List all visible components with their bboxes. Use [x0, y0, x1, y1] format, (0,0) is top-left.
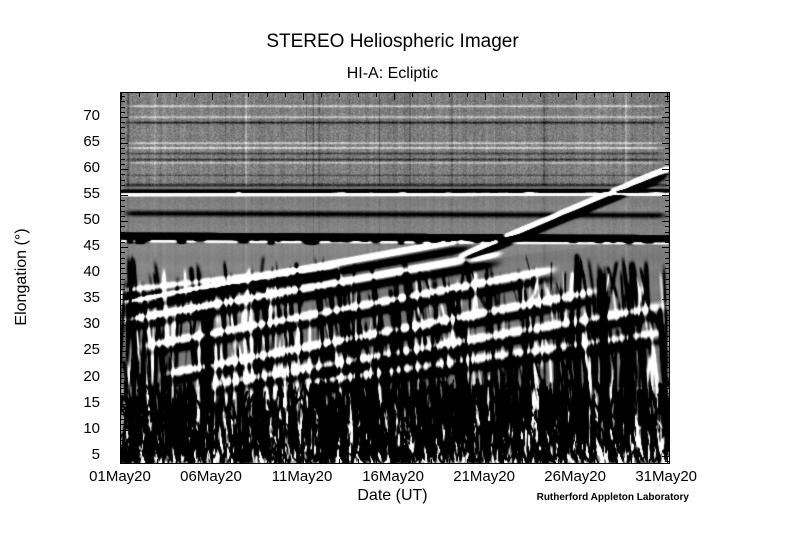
axis-tick [121, 159, 125, 160]
y-tick-label: 30 [60, 316, 100, 331]
axis-tick [376, 459, 377, 463]
axis-tick [665, 450, 669, 451]
axis-tick [662, 404, 669, 405]
axis-tick [194, 93, 195, 97]
axis-tick [121, 315, 125, 316]
axis-tick [121, 388, 125, 389]
axis-tick [121, 346, 125, 347]
axis-tick [139, 459, 140, 463]
axis-tick [540, 93, 541, 97]
axis-tick [121, 226, 125, 227]
axis-tick [121, 164, 125, 165]
axis-tick [662, 117, 669, 118]
axis-tick [121, 351, 128, 352]
axis-tick [121, 273, 128, 274]
axis-tick [121, 430, 128, 431]
axis-tick [121, 445, 125, 446]
axis-tick [121, 93, 122, 100]
y-tick-label: 35 [60, 290, 100, 305]
axis-tick [665, 148, 669, 149]
axis-tick [121, 200, 125, 201]
axis-tick [121, 284, 125, 285]
axis-tick [522, 93, 523, 97]
jmap-image [121, 93, 669, 463]
axis-tick [665, 362, 669, 363]
axis-tick [613, 93, 614, 97]
axis-tick [121, 289, 125, 290]
axis-tick [121, 450, 125, 451]
axis-tick [121, 336, 125, 337]
axis-tick [121, 247, 128, 248]
axis-tick [121, 414, 125, 415]
axis-tick [121, 112, 125, 113]
axis-tick [667, 93, 668, 100]
axis-tick [665, 237, 669, 238]
axis-tick [194, 459, 195, 463]
axis-tick [121, 242, 125, 243]
axis-tick [662, 325, 669, 326]
y-tick-label: 55 [60, 186, 100, 201]
axis-tick [121, 279, 125, 280]
axis-tick [665, 440, 669, 441]
axis-tick [665, 424, 669, 425]
axis-tick [662, 221, 669, 222]
axis-tick [121, 221, 128, 222]
axis-tick [665, 341, 669, 342]
axis-tick [121, 117, 128, 118]
axis-tick [662, 195, 669, 196]
axis-tick [212, 93, 213, 100]
axis-tick [248, 93, 249, 97]
axis-tick [662, 273, 669, 274]
axis-tick [665, 127, 669, 128]
axis-tick [157, 93, 158, 97]
axis-tick [665, 258, 669, 259]
axis-tick [449, 459, 450, 463]
axis-tick [121, 294, 125, 295]
axis-tick [665, 336, 669, 337]
axis-tick [121, 398, 125, 399]
axis-tick [665, 310, 669, 311]
axis-tick [631, 459, 632, 463]
axis-tick [665, 320, 669, 321]
axis-tick [665, 357, 669, 358]
axis-tick [358, 459, 359, 463]
axis-tick [665, 279, 669, 280]
axis-tick [665, 216, 669, 217]
axis-tick [665, 435, 669, 436]
axis-tick [665, 185, 669, 186]
y-tick-label: 45 [60, 238, 100, 253]
y-tick-label: 10 [60, 421, 100, 436]
axis-tick [522, 459, 523, 463]
axis-tick [503, 459, 504, 463]
axis-tick [121, 185, 125, 186]
axis-tick [176, 459, 177, 463]
axis-tick [121, 409, 125, 410]
axis-tick [121, 237, 125, 238]
figure-subtitle: HI-A: Ecliptic [0, 64, 785, 83]
axis-tick [594, 93, 595, 97]
axis-tick [665, 398, 669, 399]
axis-tick [594, 459, 595, 463]
axis-tick [665, 159, 669, 160]
axis-tick [665, 232, 669, 233]
axis-tick [665, 393, 669, 394]
axis-tick [376, 93, 377, 97]
axis-tick [394, 93, 395, 100]
axis-tick [665, 414, 669, 415]
y-tick-label: 40 [60, 264, 100, 279]
axis-tick [665, 164, 669, 165]
axis-tick [665, 388, 669, 389]
axis-tick [631, 93, 632, 97]
axis-tick [121, 153, 125, 154]
axis-tick [121, 435, 125, 436]
axis-tick [121, 305, 125, 306]
axis-tick [121, 419, 125, 420]
axis-tick [121, 310, 125, 311]
axis-tick [285, 459, 286, 463]
axis-tick [230, 93, 231, 97]
axis-tick [665, 383, 669, 384]
axis-tick [121, 378, 128, 379]
axis-tick [121, 341, 125, 342]
axis-tick [665, 112, 669, 113]
axis-tick [662, 430, 669, 431]
y-axis-title: Elongation (°) [13, 228, 31, 325]
axis-tick [485, 93, 486, 100]
axis-tick [121, 456, 128, 457]
axis-tick [339, 93, 340, 97]
axis-tick [121, 138, 125, 139]
axis-tick [121, 133, 125, 134]
axis-tick [121, 143, 128, 144]
axis-tick [431, 93, 432, 97]
y-tick-label: 20 [60, 369, 100, 384]
y-tick-label: 65 [60, 134, 100, 149]
axis-tick [558, 459, 559, 463]
x-tick-label: 31May20 [606, 469, 726, 485]
axis-tick [649, 459, 650, 463]
axis-tick [121, 320, 125, 321]
axis-tick [665, 305, 669, 306]
axis-tick [121, 180, 125, 181]
axis-tick [267, 93, 268, 97]
axis-tick [248, 459, 249, 463]
y-tick-label: 15 [60, 395, 100, 410]
y-tick-label: 5 [60, 447, 100, 462]
axis-tick [662, 351, 669, 352]
axis-tick [121, 263, 125, 264]
axis-tick [121, 362, 125, 363]
axis-tick [121, 216, 125, 217]
axis-tick [121, 357, 125, 358]
axis-tick [665, 206, 669, 207]
axis-tick [121, 206, 125, 207]
plot-area [120, 92, 670, 464]
axis-tick [121, 393, 125, 394]
axis-tick [121, 268, 125, 269]
axis-tick [576, 93, 577, 100]
axis-tick [121, 456, 122, 463]
axis-tick [665, 372, 669, 373]
y-tick-label: 60 [60, 160, 100, 175]
axis-tick [358, 93, 359, 97]
axis-tick [121, 190, 125, 191]
axis-tick [665, 294, 669, 295]
axis-tick [121, 383, 125, 384]
axis-tick [467, 93, 468, 97]
axis-tick [662, 169, 669, 170]
axis-tick [662, 299, 669, 300]
axis-tick [121, 122, 125, 123]
axis-tick [665, 315, 669, 316]
axis-tick [665, 107, 669, 108]
axis-tick [449, 93, 450, 97]
axis-tick [665, 153, 669, 154]
axis-tick [121, 404, 128, 405]
axis-tick [121, 107, 125, 108]
axis-tick [667, 456, 668, 463]
axis-tick [558, 93, 559, 97]
axis-tick [157, 459, 158, 463]
axis-tick [176, 93, 177, 97]
axis-tick [321, 459, 322, 463]
axis-tick [121, 372, 125, 373]
axis-tick [576, 456, 577, 463]
axis-tick [303, 93, 304, 100]
axis-tick [339, 459, 340, 463]
axis-tick [665, 190, 669, 191]
axis-tick [394, 456, 395, 463]
axis-tick [613, 459, 614, 463]
axis-tick [665, 331, 669, 332]
axis-tick [665, 263, 669, 264]
stereo-hi-jmap-figure: STEREO Heliospheric Imager HI-A: Eclipti… [0, 0, 785, 538]
axis-tick [321, 93, 322, 97]
axis-tick [665, 409, 669, 410]
axis-tick [121, 367, 125, 368]
axis-tick [665, 419, 669, 420]
axis-tick [665, 138, 669, 139]
axis-tick [665, 226, 669, 227]
axis-tick [467, 459, 468, 463]
axis-tick [662, 378, 669, 379]
y-tick-label: 70 [60, 108, 100, 123]
axis-tick [412, 459, 413, 463]
axis-tick [662, 143, 669, 144]
axis-tick [665, 211, 669, 212]
axis-tick [267, 459, 268, 463]
axis-tick [665, 367, 669, 368]
axis-tick [431, 459, 432, 463]
axis-tick [121, 252, 125, 253]
axis-tick [665, 252, 669, 253]
axis-tick [121, 325, 128, 326]
axis-tick [121, 101, 125, 102]
axis-tick [139, 93, 140, 97]
axis-tick [485, 456, 486, 463]
axis-tick [121, 211, 125, 212]
axis-tick [121, 174, 125, 175]
axis-tick [503, 93, 504, 97]
axis-tick [121, 258, 125, 259]
axis-tick [662, 247, 669, 248]
axis-tick [285, 93, 286, 97]
axis-tick [649, 93, 650, 97]
axis-tick [121, 331, 125, 332]
axis-tick [121, 299, 128, 300]
axis-tick [121, 232, 125, 233]
axis-tick [121, 169, 128, 170]
axis-tick [121, 440, 125, 441]
credit-text: Rutherford Appleton Laboratory [537, 492, 689, 504]
page-title: STEREO Heliospheric Imager [0, 31, 785, 53]
axis-tick [665, 200, 669, 201]
axis-tick [665, 445, 669, 446]
axis-tick [121, 195, 128, 196]
axis-tick [665, 268, 669, 269]
axis-tick [665, 242, 669, 243]
axis-tick [121, 148, 125, 149]
axis-tick [665, 133, 669, 134]
axis-tick [665, 289, 669, 290]
axis-tick [540, 459, 541, 463]
axis-tick [665, 180, 669, 181]
axis-tick [412, 93, 413, 97]
y-tick-label: 25 [60, 342, 100, 357]
axis-tick [665, 284, 669, 285]
axis-tick [665, 346, 669, 347]
axis-tick [303, 456, 304, 463]
axis-tick [665, 122, 669, 123]
y-tick-label: 50 [60, 212, 100, 227]
axis-tick [665, 174, 669, 175]
axis-tick [121, 127, 125, 128]
axis-tick [665, 101, 669, 102]
axis-tick [212, 456, 213, 463]
axis-tick [121, 424, 125, 425]
axis-tick [230, 459, 231, 463]
